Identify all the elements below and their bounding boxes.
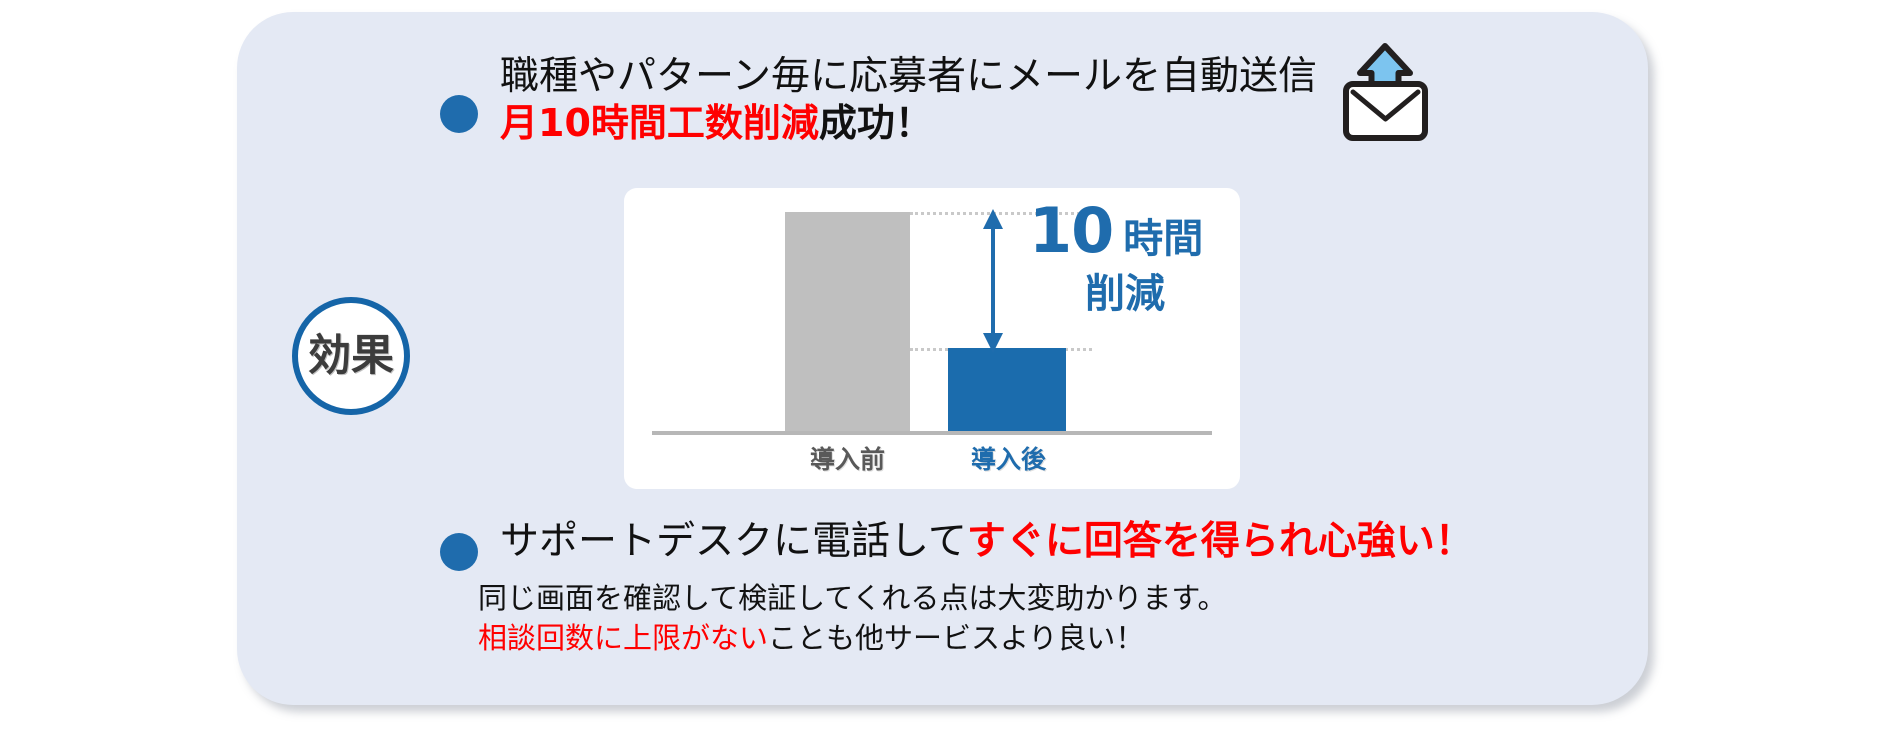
blue-dot-icon <box>440 533 478 571</box>
slide-canvas: 効果 職種やパターン毎に応募者にメールを自動送信 月10時間工数削減成功！ <box>0 0 1900 730</box>
delta-caption: 10時間 削減 <box>1029 200 1239 314</box>
double-headed-arrow-icon <box>979 208 1007 354</box>
effect-badge: 効果 <box>292 297 410 415</box>
category-label-before: 導入前 <box>775 440 920 476</box>
chart-baseline <box>652 431 1212 435</box>
sub-text-line-1: 同じ画面を確認して検証してくれる点は大変助かります。 <box>478 578 1378 618</box>
headline-2-black-text: サポートデスクに電話して <box>500 519 967 564</box>
headline-block-1: 職種やパターン毎に応募者にメールを自動送信 月10時間工数削減成功！ <box>500 53 1340 147</box>
bar-after <box>948 348 1066 431</box>
headline-block-2: サポートデスクに電話してすぐに回答を得られ心強い！ <box>500 518 1400 565</box>
bar-before <box>785 212 910 431</box>
headline-1-line-2: 月10時間工数削減成功！ <box>500 100 1340 147</box>
delta-caption-row-1: 10時間 <box>1029 200 1239 262</box>
effect-badge-label: 効果 <box>308 335 394 378</box>
category-label-after: 導入後 <box>936 440 1081 476</box>
sub-text-red: 相談回数に上限がない <box>478 621 768 655</box>
headline-2-line: サポートデスクに電話してすぐに回答を得られ心強い！ <box>500 518 1400 565</box>
chart-plot-area: 10時間 削減 導入前 導入後 <box>624 188 1240 489</box>
delta-word: 削減 <box>1085 274 1239 314</box>
sub-text-line-2: 相談回数に上限がないことも他サービスより良い！ <box>478 618 1378 658</box>
envelope-upload-icon <box>1338 40 1434 144</box>
headline-1-red-text: 月10時間工数削減 <box>500 101 819 145</box>
delta-unit: 時間 <box>1123 216 1203 262</box>
delta-value: 10 <box>1029 194 1113 267</box>
sub-text-black: ことも他サービスより良い！ <box>768 621 1144 655</box>
headline-1-black-text: 成功！ <box>819 101 933 145</box>
savings-bar-chart: 10時間 削減 導入前 導入後 <box>624 188 1240 489</box>
blue-dot-icon <box>440 95 478 133</box>
sub-text-block: 同じ画面を確認して検証してくれる点は大変助かります。 相談回数に上限がないことも… <box>478 578 1378 658</box>
headline-2-red-text: すぐに回答を得られ心強い！ <box>967 519 1474 564</box>
headline-1-line-1: 職種やパターン毎に応募者にメールを自動送信 <box>500 53 1340 100</box>
